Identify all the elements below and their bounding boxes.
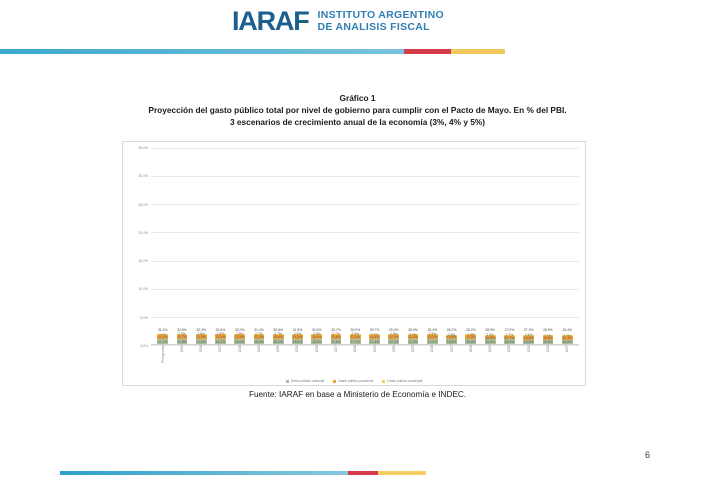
x-axis-label-text: 2027 [334, 345, 338, 352]
bar-column[interactable]: 27,3%2,6%10,6%16,0% [519, 148, 538, 345]
x-axis-label-text: 2028 [238, 345, 242, 352]
x-axis-label-text: 2030 [507, 345, 511, 352]
x-axis-label-text: Presupuesto [161, 345, 165, 363]
bar-column[interactable]: 32,0%2,9%12,5%18,0% [230, 148, 249, 345]
bar-column[interactable]: 32,6%2,9%12,7%17,8% [172, 148, 191, 345]
chart-x-axis: Presupuesto20252026202720282029203020252… [151, 345, 579, 371]
x-axis-label-text: 2025 [527, 345, 531, 352]
x-axis-label: 2029 [365, 345, 384, 371]
bar-column[interactable]: 26,4%2,4%10,3%15,6% [558, 148, 577, 345]
bar-column[interactable]: 32,3%2,8%11,9%17,6% [192, 148, 211, 345]
x-axis-label-text: 2029 [257, 345, 261, 352]
bar-total-label: 28,4% [428, 328, 438, 332]
bar-column[interactable]: 30,8%2,7%12,4%18,2% [269, 148, 288, 345]
bar-column[interactable]: 30,7%2,7%11,8%17,6% [326, 148, 345, 345]
legend-item[interactable]: Gasto público nacional [286, 379, 324, 383]
x-axis-label: 2026 [423, 345, 442, 371]
chart-title-line3: 3 escenarios de crecimiento anual de la … [0, 116, 715, 128]
x-axis-label: 2026 [538, 345, 557, 371]
bar-total-label: 28,9% [485, 328, 495, 332]
header-rule [0, 49, 505, 54]
bar-column[interactable]: 28,9%2,8%11,2%17,2% [403, 148, 422, 345]
bar-total-label: 28,2% [466, 328, 476, 332]
y-axis-tick: 0,0% [140, 344, 148, 348]
chart-bars: 31,1%2,8%11,9%17,1%32,6%2,9%12,7%17,8%32… [151, 148, 579, 345]
chart-container: 0,0%5,0%10,0%15,0%20,0%25,0%30,0%35,0% 3… [122, 141, 586, 386]
legend-swatch-icon [333, 380, 336, 383]
header-rule-blue [0, 49, 404, 54]
x-axis-label-text: 2025 [295, 345, 299, 352]
bar-total-label: 26,9% [543, 328, 553, 332]
x-axis-label-text: 2026 [430, 345, 434, 352]
y-axis-tick: 5,0% [140, 316, 148, 320]
page-number: 6 [645, 450, 650, 460]
x-axis-label-text: 2029 [488, 345, 492, 352]
legend-item[interactable]: Gasto público provincial [333, 379, 373, 383]
bar-column[interactable]: 30,6%2,9%12,4%18,0% [307, 148, 326, 345]
logo-wordmark: IARAF [232, 8, 309, 35]
x-axis-label-text: 2029 [373, 345, 377, 352]
bar-column[interactable]: 31,4%2,7%12,3%18,4% [249, 148, 268, 345]
x-axis-label: 2030 [269, 345, 288, 371]
x-axis-label-text: 2030 [392, 345, 396, 352]
legend-label: Gasto público municipal [387, 379, 422, 383]
x-axis-label: 2027 [211, 345, 230, 371]
chart-plot-area: 0,0%5,0%10,0%15,0%20,0%25,0%30,0%35,0% 3… [151, 148, 579, 345]
x-axis-label-text: 2026 [546, 345, 550, 352]
bar-column[interactable]: 30,9%2,9%12,3%17,7% [346, 148, 365, 345]
page-header: IARAF INSTITUTO ARGENTINO DE ANALISIS FI… [0, 0, 715, 58]
logo-subtitle: INSTITUTO ARGENTINO DE ANALISIS FISCAL [318, 10, 444, 33]
x-axis-label-text: 2030 [276, 345, 280, 352]
x-axis-label-text: 2028 [353, 345, 357, 352]
x-axis-label: 2025 [288, 345, 307, 371]
footer-rule-red [348, 471, 378, 475]
chart-title-block: Gráfico 1 Proyección del gasto público t… [0, 92, 715, 128]
source-note: Fuente: IARAF en base a Ministerio de Ec… [0, 390, 715, 399]
x-axis-label: 2028 [346, 345, 365, 371]
x-axis-label: 2029 [481, 345, 500, 371]
x-axis-label: 2026 [192, 345, 211, 371]
header-rule-red [404, 49, 451, 54]
x-axis-label: 2027 [442, 345, 461, 371]
chart-legend: Gasto público nacionalGasto público prov… [123, 379, 585, 383]
x-axis-label: 2029 [249, 345, 268, 371]
bar-column[interactable]: 26,9%2,5%10,5%15,8% [538, 148, 557, 345]
x-axis-label-text: 2027 [218, 345, 222, 352]
bar-column[interactable]: 31,1%2,8%11,9%17,1% [153, 148, 172, 345]
bar-total-label: 32,3% [196, 328, 206, 332]
x-axis-label-text: 2027 [450, 345, 454, 352]
x-axis-label-text: 2026 [315, 345, 319, 352]
bar-column[interactable]: 29,4%2,9%12,3%17,1% [384, 148, 403, 345]
bar-column[interactable]: 26,7%2,8%10,8%16,8% [442, 148, 461, 345]
footer-rule-blue [60, 471, 348, 475]
iaraf-logo: IARAF INSTITUTO ARGENTINO DE ANALISIS FI… [232, 8, 444, 35]
legend-swatch-icon [286, 380, 289, 383]
y-axis-tick: 30,0% [138, 174, 148, 178]
legend-label: Gasto público provincial [338, 379, 373, 383]
x-axis-label-text: 2028 [469, 345, 473, 352]
x-axis-label-text: 2026 [199, 345, 203, 352]
x-axis-label: 2025 [403, 345, 422, 371]
bar-total-label: 31,1% [158, 328, 168, 332]
legend-swatch-icon [382, 380, 385, 383]
x-axis-label: 2028 [230, 345, 249, 371]
logo-subtitle-line1: INSTITUTO ARGENTINO [318, 10, 444, 21]
y-axis-tick: 15,0% [138, 259, 148, 263]
logo-subtitle-line2: DE ANALISIS FISCAL [318, 22, 444, 33]
bar-total-label: 29,4% [389, 328, 399, 332]
bar-column[interactable]: 31,5%2,9%11,8%18,5% [288, 148, 307, 345]
x-axis-label: Presupuesto [153, 345, 172, 371]
x-axis-label: 2030 [500, 345, 519, 371]
x-axis-label: 2025 [519, 345, 538, 371]
legend-item[interactable]: Gasto público municipal [382, 379, 422, 383]
bar-total-label: 27,3% [524, 328, 534, 332]
footer-rule [60, 471, 426, 475]
bar-column[interactable]: 28,4%2,9%12,3%17,0% [423, 148, 442, 345]
footer-rule-yellow [378, 471, 426, 475]
bar-column[interactable]: 32,6%2,8%12,5%18,2% [211, 148, 230, 345]
x-axis-label-text: 2025 [411, 345, 415, 352]
x-axis-label: 2027 [558, 345, 577, 371]
header-rule-yellow [451, 49, 505, 54]
chart-title-line2: Proyección del gasto público total por n… [0, 104, 715, 116]
bar-column[interactable]: 28,2%2,9%12,3%16,6% [461, 148, 480, 345]
x-axis-label: 2028 [461, 345, 480, 371]
bar-total-label: 28,9% [408, 328, 418, 332]
legend-label: Gasto público nacional [291, 379, 324, 383]
bar-total-label: 26,7% [447, 328, 457, 332]
y-axis-tick: 10,0% [138, 287, 148, 291]
bar-column[interactable]: 29,7%2,7%11,8%17,4% [365, 148, 384, 345]
bar-total-label: 29,7% [370, 328, 380, 332]
chart-title-line1: Gráfico 1 [0, 92, 715, 104]
bar-total-label: 26,4% [562, 328, 572, 332]
x-axis-label: 2027 [326, 345, 345, 371]
y-axis-tick: 20,0% [138, 231, 148, 235]
bar-total-label: 30,7% [331, 328, 341, 332]
bar-column[interactable]: 28,9%2,8%10,8%16,4% [481, 148, 500, 345]
x-axis-label: 2025 [172, 345, 191, 371]
x-axis-label: 2030 [384, 345, 403, 371]
y-axis-tick: 25,0% [138, 203, 148, 207]
bar-total-label: 27,9% [505, 328, 515, 332]
x-axis-label-text: 2025 [180, 345, 184, 352]
x-axis-label: 2026 [307, 345, 326, 371]
bar-column[interactable]: 27,9%2,7%10,7%16,2% [500, 148, 519, 345]
x-axis-label-text: 2027 [565, 345, 569, 352]
y-axis-tick: 35,0% [138, 146, 148, 150]
